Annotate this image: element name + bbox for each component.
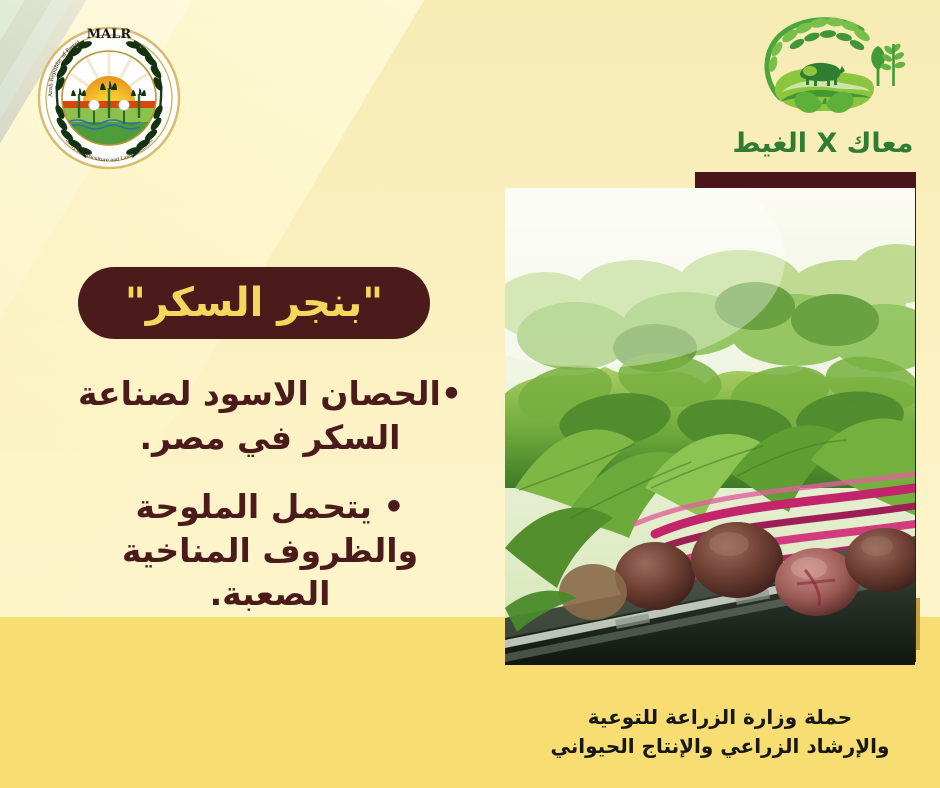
campaign-wordmark: معاك X الغيط	[728, 122, 918, 162]
footer-line-1: حملة وزارة الزراعة للتوعية	[520, 703, 920, 732]
list-item: • يتحمل الملوحة والظروف المناخية الصعبة.	[60, 485, 480, 616]
emblem-acronym: MALR	[87, 27, 132, 42]
footer-line-2: والإرشاد الزراعي والإنتاج الحيواني	[520, 732, 920, 761]
sugar-beet-photo	[505, 188, 915, 665]
poster: MALR Arab Republic of Egypt Ministry of …	[0, 0, 940, 788]
page-title: "بنجر السكر"	[125, 283, 383, 323]
headline-pill: "بنجر السكر"	[78, 267, 430, 339]
sugar-beet-photo-image	[505, 188, 915, 665]
campaign-logo-icon	[728, 8, 918, 126]
ministry-emblem-icon: MALR Arab Republic of Egypt Ministry of …	[35, 22, 183, 172]
bullet-list: •الحصان الاسود لصناعة السكر في مصر. • يت…	[60, 372, 480, 642]
campaign-wordmark-text: معاك X الغيط	[732, 128, 913, 159]
ministry-emblem-logo: MALR Arab Republic of Egypt Ministry of …	[35, 22, 183, 172]
campaign-logo: معاك X الغيط	[728, 8, 918, 168]
footer-campaign-credit: حملة وزارة الزراعة للتوعية والإرشاد الزر…	[520, 703, 920, 761]
list-item: •الحصان الاسود لصناعة السكر في مصر.	[60, 372, 480, 459]
